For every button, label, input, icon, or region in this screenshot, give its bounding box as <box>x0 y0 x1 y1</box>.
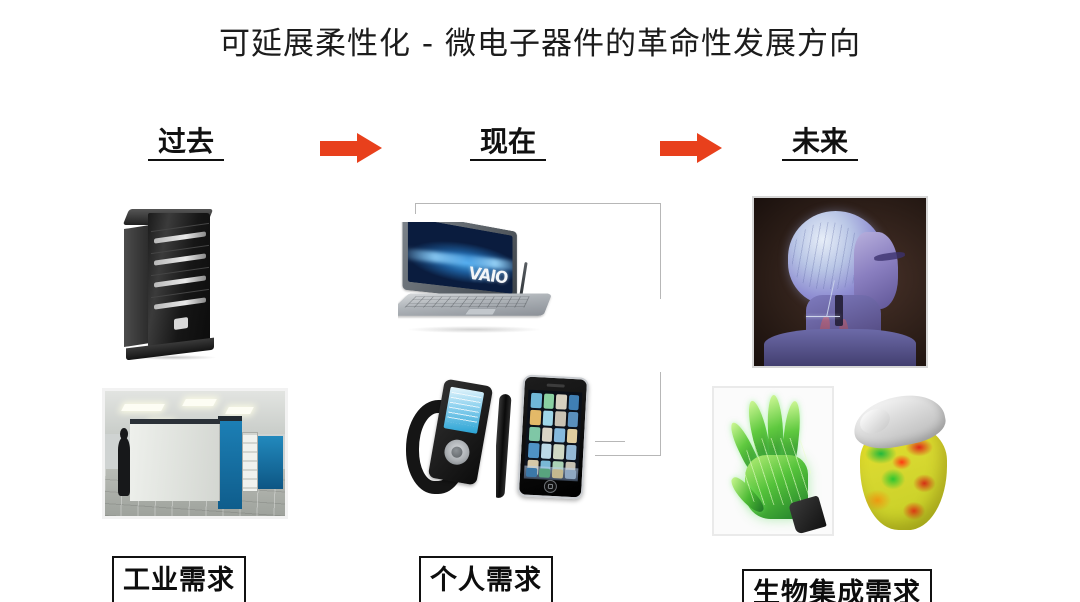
tower-side-panel <box>124 225 150 347</box>
iphone-app-icon <box>528 443 539 458</box>
ceiling-light <box>182 399 216 406</box>
ceiling-light <box>226 407 255 414</box>
hand-glow-lines <box>745 438 811 505</box>
datacenter-photo <box>102 388 288 519</box>
stage-header-future: 未来 <box>782 126 858 161</box>
iphone-app-icon <box>568 395 579 410</box>
bracket-bottom-line <box>595 455 661 456</box>
laptop-screen: VAIO <box>408 222 513 294</box>
arrow-shaft <box>320 141 360 156</box>
iphone-side-profile <box>496 394 512 499</box>
iphone-app-icon <box>555 411 566 426</box>
laptop-base <box>398 293 552 315</box>
bionic-hand-photo <box>712 386 834 536</box>
page-title: 可延展柔性化 - 微电子器件的革命性发展方向 <box>0 18 1080 63</box>
iphone-home-button <box>544 480 558 494</box>
iphone-earpiece <box>547 384 565 388</box>
server-cabinet-main <box>130 419 220 502</box>
ceiling-light <box>121 404 164 411</box>
laptop-stylus <box>519 262 527 296</box>
iphone-app-icon <box>555 394 566 409</box>
person-silhouette <box>118 437 131 496</box>
arrow-shaft <box>660 141 700 156</box>
iphone-app-icon <box>565 445 576 460</box>
server-rack <box>242 432 258 492</box>
ipod-screen <box>443 387 484 434</box>
laptop-shadow <box>408 326 540 333</box>
implant-device <box>835 295 844 325</box>
server-tower-graphic <box>118 205 238 360</box>
caption-industrial-demand: 工业需求 <box>112 556 246 602</box>
bracket-top-line <box>415 203 661 204</box>
tower-shadow <box>130 355 216 360</box>
server-cabinet-blue <box>218 416 241 509</box>
implant-lead <box>806 316 840 317</box>
laptop-touchpad <box>464 309 497 316</box>
iphone-device <box>517 374 589 499</box>
iphone-app-icon <box>531 393 542 408</box>
arrow-present-to-future-icon <box>660 133 722 163</box>
head-shoulders <box>764 329 915 366</box>
laptop-keyboard <box>405 296 530 307</box>
ipod-armband-photo <box>404 378 500 503</box>
iphone-app-icon <box>542 410 553 425</box>
arrow-head <box>697 133 722 163</box>
iphone-app-icon <box>567 412 578 427</box>
iphone-dock-icon <box>526 468 537 478</box>
iphone-dock-icon <box>539 468 550 478</box>
iphone-dock-icon <box>565 470 576 480</box>
stage-header-past: 过去 <box>148 126 224 161</box>
iphone-app-icon <box>530 410 541 425</box>
neural-implant-head-photo <box>752 196 928 368</box>
arrow-past-to-present-icon <box>320 133 382 163</box>
iphone-app-icon <box>540 444 551 459</box>
iphone-photo <box>496 372 594 507</box>
bracket-right-lower-line <box>660 372 661 456</box>
heart-atrium-lobe <box>856 404 894 438</box>
iphone-app-icon <box>541 427 552 442</box>
iphone-app-icon <box>529 426 540 441</box>
iphone-app-icon <box>553 444 564 459</box>
heart-map-photo <box>846 388 964 536</box>
laptop-lid: VAIO <box>402 222 516 302</box>
vaio-laptop-photo: VAIO <box>398 222 558 340</box>
bracket-bottom-stub <box>595 441 625 442</box>
caption-bio-integration-demand: 生物集成需求 <box>742 569 932 602</box>
hand-wrist-connector <box>788 495 826 534</box>
caption-personal-demand: 个人需求 <box>419 556 553 602</box>
iphone-app-icon <box>554 428 565 443</box>
iphone-dock-icon <box>552 469 563 479</box>
vaio-brand-logo: VAIO <box>469 264 507 289</box>
ipod-device <box>428 379 494 486</box>
server-cabinet-blue-rear <box>256 436 283 489</box>
arrow-head <box>357 133 382 163</box>
ipod-click-wheel <box>442 438 471 467</box>
hp-logo-icon <box>174 317 188 330</box>
stage-header-present: 现在 <box>470 126 546 161</box>
slide-canvas: 可延展柔性化 - 微电子器件的革命性发展方向 过去 现在 未来 <box>0 0 1080 602</box>
bracket-left-stub <box>415 203 416 214</box>
server-tower-photo <box>118 205 238 360</box>
iphone-app-icon <box>543 393 554 408</box>
bracket-right-upper-line <box>660 203 661 299</box>
iphone-app-icon <box>566 428 577 443</box>
